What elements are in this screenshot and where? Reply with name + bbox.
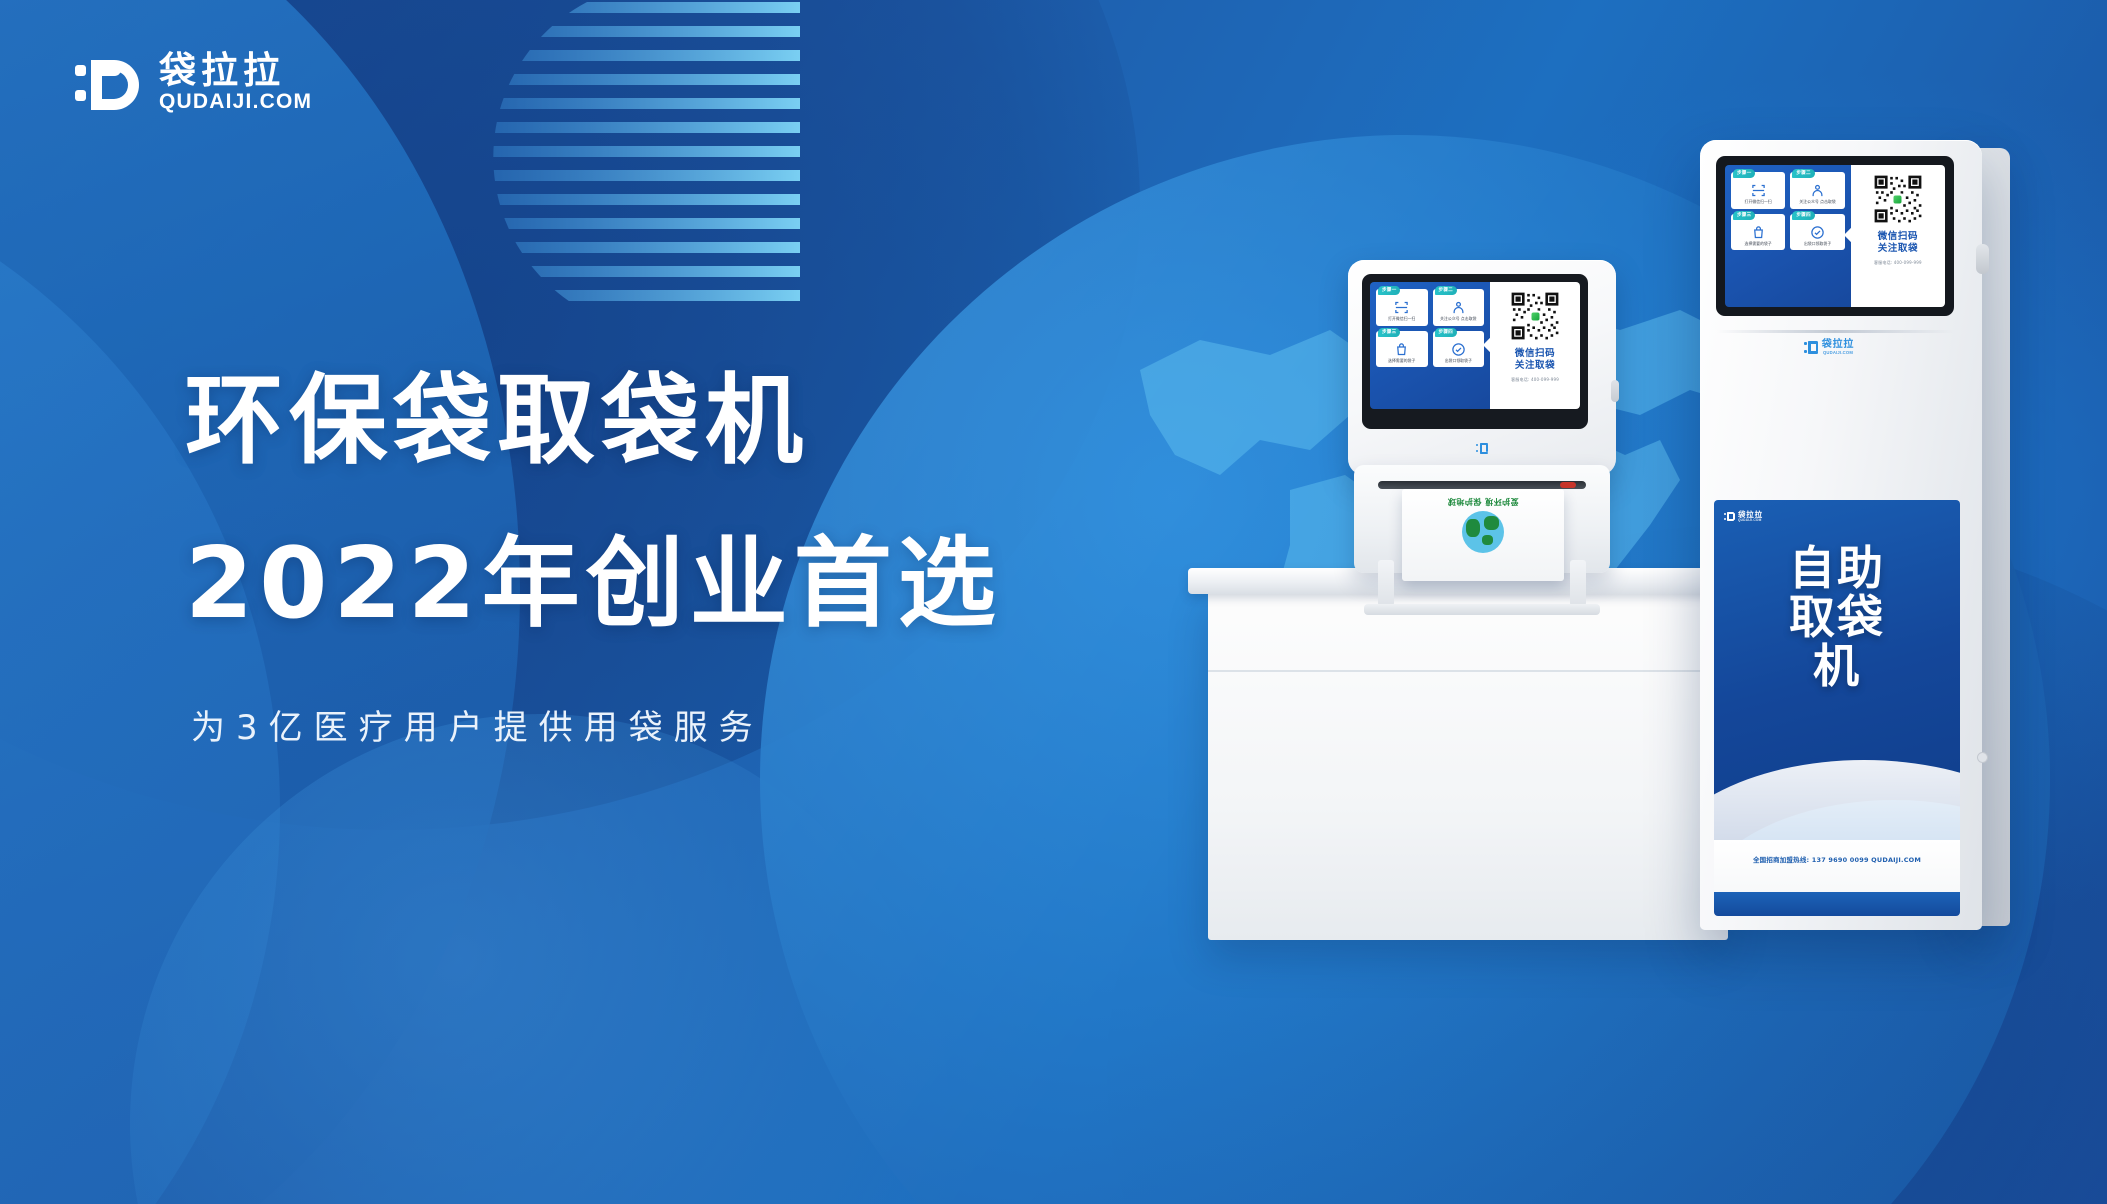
step-card[interactable]: 步骤二 关注公众号 点击取袋 <box>1433 289 1485 326</box>
qudaiji-d-mark-icon <box>1476 443 1489 454</box>
floor-kiosk-side-lock[interactable] <box>1977 752 1988 763</box>
step-card[interactable]: 步骤一 打开微信扫一扫 <box>1731 172 1785 209</box>
kiosk-hotline-text: 全国招商加盟热线: 137 9690 0099 QUDAIJI.COM <box>1714 854 1960 864</box>
earth-globe-icon <box>1462 511 1504 553</box>
floor-kiosk-side-button[interactable] <box>1976 244 1989 274</box>
step-caption: 出袋口领取袋子 <box>1445 359 1472 364</box>
step-caption: 选择需要的袋子 <box>1388 359 1415 364</box>
countertop-stand <box>1372 560 1592 614</box>
step-caption: 选择需要的袋子 <box>1745 242 1772 247</box>
step-tag: 步骤四 <box>1792 211 1814 220</box>
step-tag: 步骤二 <box>1792 169 1814 178</box>
panel-vertical-title: 自助 取袋 机 <box>1714 544 1960 690</box>
countertop-screen[interactable]: 步骤一 打开微信扫一扫 步骤二 <box>1370 282 1580 409</box>
page-subtitle: 2022年创业首选 <box>185 535 1002 633</box>
brand-domain: QUDAIJI.COM <box>159 91 312 112</box>
scan-qr-icon <box>1751 183 1766 198</box>
qudaiji-d-mark-icon <box>1804 341 1819 354</box>
countertop-dispenser-body: 爱护环境 保护地球 <box>1354 465 1610 573</box>
step-card[interactable]: 步骤三 选择需要的袋子 <box>1731 214 1785 251</box>
decorative-stripes-icon <box>440 0 800 322</box>
qr-logo-badge <box>1530 311 1541 322</box>
scan-instruction-line2: 关注取袋 <box>1878 243 1918 255</box>
qudaiji-d-mark-icon <box>1724 512 1735 521</box>
bag-slogan: 爱护环境 保护地球 <box>1402 496 1564 507</box>
scan-instruction-line1: 微信扫码 <box>1878 231 1918 243</box>
support-hotline: 客服电话: 400-099-999 <box>1511 377 1559 383</box>
panel-vertical-title-line1: 自助 <box>1714 544 1960 593</box>
panel-brand-domain: QUDAIJI.COM <box>1738 519 1763 522</box>
countertop-side-button[interactable] <box>1611 380 1619 402</box>
hero-copy: 环保袋取袋机 2022年创业首选 为3亿医疗用户提供用袋服务 <box>185 372 1002 745</box>
scan-qr-icon <box>1394 300 1409 315</box>
counter-desk <box>1208 590 1728 940</box>
check-done-icon <box>1810 225 1825 240</box>
step-caption: 打开微信扫一扫 <box>1745 200 1772 205</box>
brand-name-cn: 袋拉拉 <box>159 52 312 89</box>
follow-account-icon <box>1810 183 1825 198</box>
brand-logo[interactable]: 袋拉拉 QUDAIJI.COM <box>75 52 312 112</box>
screen-qr-panel: 微信扫码 关注取袋 客服电话: 400-099-999 <box>1490 282 1580 409</box>
select-bag-icon <box>1751 225 1766 240</box>
step-caption: 出袋口领取袋子 <box>1804 242 1831 247</box>
step-card[interactable]: 步骤二 关注公众号 点击取袋 <box>1790 172 1844 209</box>
step-tag: 步骤四 <box>1435 328 1457 337</box>
floor-kiosk-screen-bezel: 步骤一 打开微信扫一扫 步骤二 <box>1716 156 1954 316</box>
screen-steps-panel: 步骤一 打开微信扫一扫 步骤二 <box>1370 282 1490 409</box>
product-scene: 步骤一 打开微信扫一扫 步骤二 <box>1180 150 2080 980</box>
follow-account-icon <box>1451 300 1466 315</box>
floor-kiosk-bottom-band <box>1714 892 1960 916</box>
step-caption: 关注公众号 点击取袋 <box>1799 200 1835 205</box>
countertop-kiosk-head: 步骤一 打开微信扫一扫 步骤二 <box>1348 260 1616 475</box>
scan-instruction: 微信扫码 关注取袋 <box>1515 348 1555 372</box>
qr-code-icon[interactable] <box>1509 290 1561 342</box>
scan-instruction-line1: 微信扫码 <box>1515 348 1555 360</box>
floor-kiosk-divider <box>1716 330 1954 333</box>
floor-kiosk-brand-mark: 袋拉拉 QUDAIJI.COM <box>1700 340 1958 359</box>
check-done-icon <box>1451 342 1466 357</box>
qudaiji-d-mark-icon <box>75 54 143 110</box>
step-tag: 步骤二 <box>1435 286 1457 295</box>
countertop-brand-mark <box>1348 441 1616 459</box>
step-tag: 步骤一 <box>1733 169 1755 178</box>
floor-kiosk-blue-panel: 袋拉拉 QUDAIJI.COM 自助 取袋 机 <box>1714 500 1960 870</box>
panel-brand-mark: 袋拉拉 QUDAIJI.COM <box>1724 508 1763 526</box>
banner-stage: 袋拉拉 QUDAIJI.COM 环保袋取袋机 2022年创业首选 为3亿医疗用户… <box>0 0 2107 1204</box>
step-tag: 步骤三 <box>1378 328 1400 337</box>
step-card[interactable]: 步骤三 选择需要的袋子 <box>1376 331 1428 368</box>
support-hotline: 客服电话: 400-099-999 <box>1874 260 1922 266</box>
panel-vertical-title-line3: 机 <box>1714 642 1960 691</box>
step-card[interactable]: 步骤一 打开微信扫一扫 <box>1376 289 1428 326</box>
counter-desk-seam <box>1208 670 1728 672</box>
countertop-screen-bezel: 步骤一 打开微信扫一扫 步骤二 <box>1362 274 1588 429</box>
bag-dispense-slot <box>1378 481 1586 489</box>
kiosk-brand-domain: QUDAIJI.COM <box>1822 351 1854 355</box>
step-card[interactable]: 步骤四 出袋口领取袋子 <box>1433 331 1485 368</box>
floor-kiosk-screen[interactable]: 步骤一 打开微信扫一扫 步骤二 <box>1725 165 1945 307</box>
page-title: 环保袋取袋机 <box>185 372 1002 470</box>
scan-instruction-line2: 关注取袋 <box>1515 360 1555 372</box>
step-tag: 步骤三 <box>1733 211 1755 220</box>
qr-code-icon[interactable] <box>1872 173 1924 225</box>
step-tag: 步骤一 <box>1378 286 1400 295</box>
step-caption: 关注公众号 点击取袋 <box>1440 317 1476 322</box>
qr-logo-badge <box>1892 194 1903 205</box>
kiosk-brand-name-cn: 袋拉拉 <box>1822 340 1854 350</box>
scan-instruction: 微信扫码 关注取袋 <box>1878 231 1918 255</box>
step-card[interactable]: 步骤四 出袋口领取袋子 <box>1790 214 1844 251</box>
countertop-kiosk[interactable]: 步骤一 打开微信扫一扫 步骤二 <box>1348 260 1626 600</box>
step-caption: 打开微信扫一扫 <box>1388 317 1415 322</box>
panel-brand-name-cn: 袋拉拉 <box>1738 511 1763 519</box>
floor-kiosk[interactable]: 步骤一 打开微信扫一扫 步骤二 <box>1700 140 2020 940</box>
select-bag-icon <box>1394 342 1409 357</box>
brand-logo-text: 袋拉拉 QUDAIJI.COM <box>159 52 312 112</box>
floor-kiosk-shell: 步骤一 打开微信扫一扫 步骤二 <box>1700 140 1982 930</box>
hero-tagline: 为3亿医疗用户提供用袋服务 <box>191 711 1002 745</box>
screen-steps-panel: 步骤一 打开微信扫一扫 步骤二 <box>1725 165 1851 307</box>
panel-vertical-title-line2: 取袋 <box>1714 593 1960 642</box>
screen-qr-panel: 微信扫码 关注取袋 客服电话: 400-099-999 <box>1851 165 1945 307</box>
